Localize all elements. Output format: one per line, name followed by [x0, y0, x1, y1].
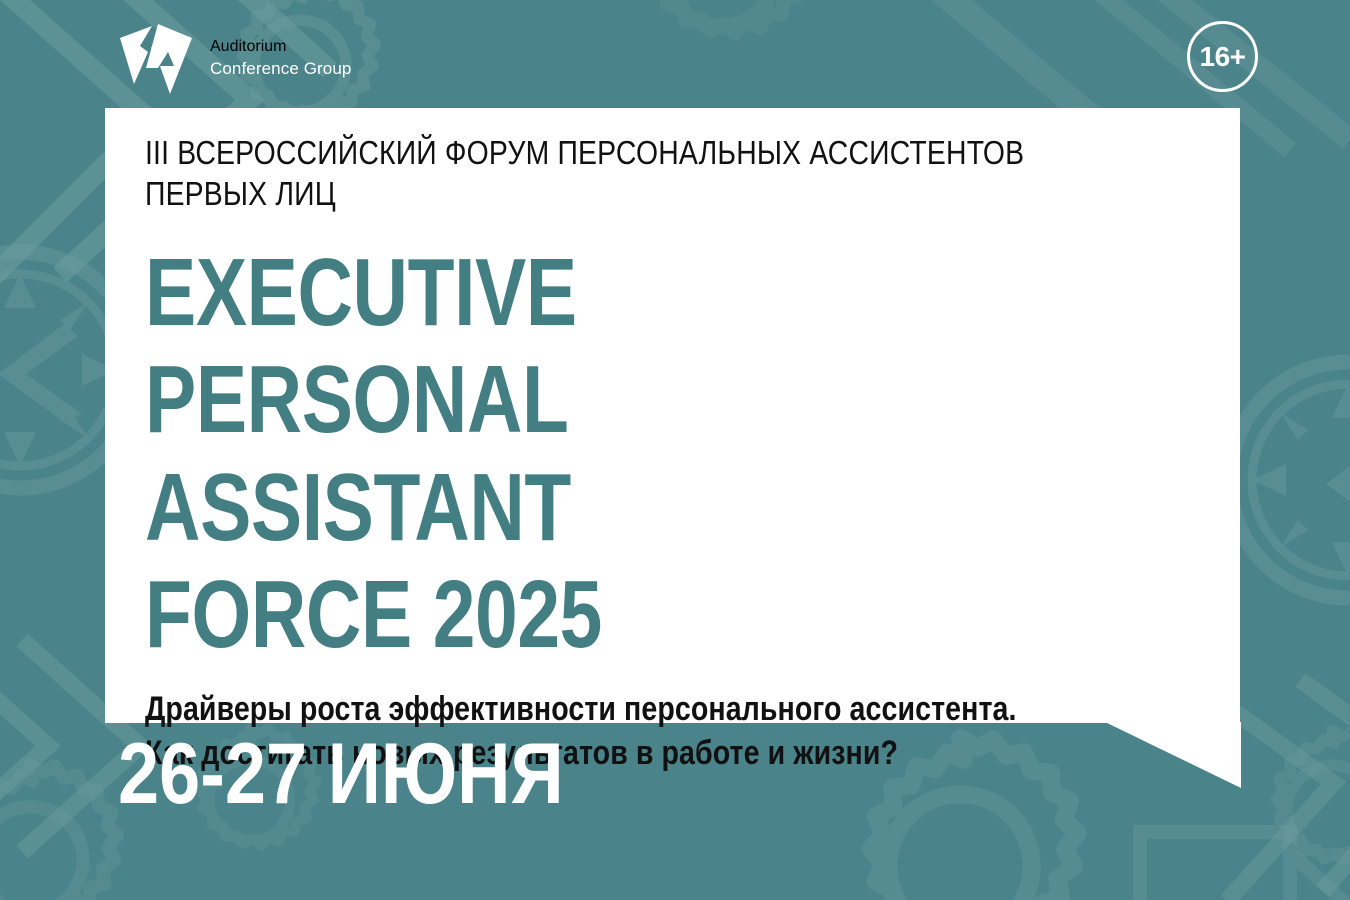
conference-poster: Auditorium Conference Group 16+ III ВСЕР… [0, 0, 1350, 900]
event-kicker: III ВСЕРОССИЙСКИЙ ФОРУМ ПЕРСОНАЛЬНЫХ АСС… [145, 132, 1056, 215]
content-card: III ВСЕРОССИЙСКИЙ ФОРУМ ПЕРСОНАЛЬНЫХ АСС… [105, 108, 1240, 723]
gear-icon [1276, 730, 1350, 860]
brand-lockup: Auditorium Conference Group [118, 22, 351, 94]
event-title: EXECUTIVE PERSONAL ASSISTANT FORCE 2025 [145, 239, 992, 669]
age-rating-badge: 16+ [1187, 21, 1258, 92]
compass-icon [1230, 362, 1350, 598]
speech-bubble-tail [1105, 722, 1241, 788]
age-rating-label: 16+ [1200, 43, 1246, 71]
gear-icon [650, 0, 812, 33]
event-date: 26-27 ИЮНЯ [118, 731, 564, 817]
auditorium-a-mark-icon [118, 22, 196, 94]
gear-icon [0, 765, 117, 900]
brand-name: Auditorium [210, 39, 351, 55]
document-icon [1140, 832, 1350, 900]
brand-tagline: Conference Group [210, 60, 351, 77]
